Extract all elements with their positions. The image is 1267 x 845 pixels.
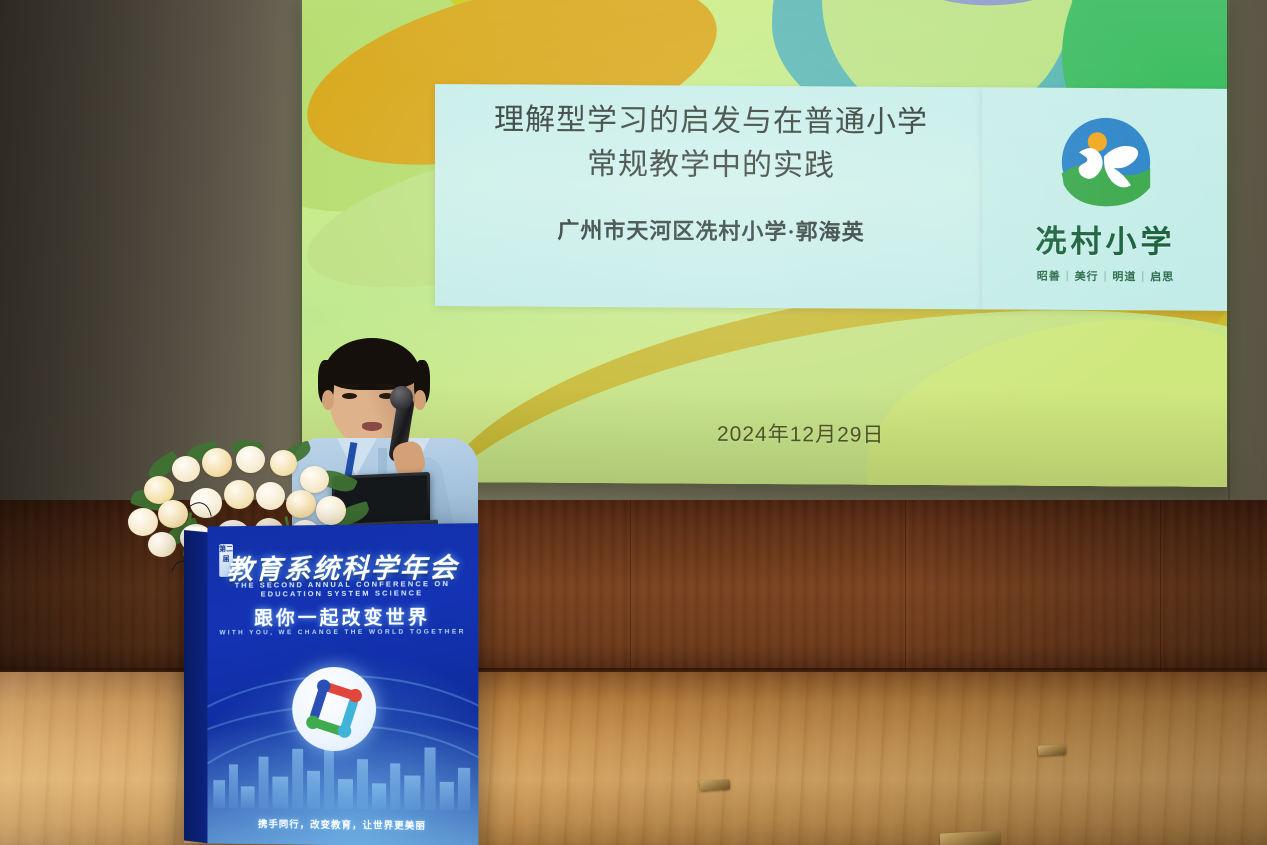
auditorium-scene: 理解型学习的启发与在普通小学 常规教学中的实践 广州市天河区冼村小学·郭海英 冼… — [0, 0, 1267, 845]
rose-bloom — [236, 446, 265, 473]
rose-bloom — [224, 480, 254, 509]
speaker-ear — [414, 390, 426, 410]
wood-panel-seam — [1160, 500, 1161, 678]
speaker-hair — [324, 338, 420, 390]
rose-bloom — [286, 490, 316, 518]
floor-outlet-plate — [700, 779, 730, 791]
rose-bloom — [202, 448, 232, 477]
rose-bloom — [172, 456, 200, 482]
conference-slogan-english: WITH YOU, WE CHANGE THE WORLD TOGETHER — [207, 628, 478, 636]
speaker-eye — [342, 393, 357, 399]
floor-outlet-plate — [940, 830, 1001, 845]
speaker-brow — [376, 384, 396, 388]
speaker-mouth — [362, 422, 382, 431]
podium-left-side — [184, 530, 209, 843]
floor-outlet-plate — [1038, 744, 1066, 755]
rose-bloom — [300, 466, 329, 493]
speaker-brow — [340, 384, 360, 388]
wood-panel-seam — [905, 500, 906, 678]
conference-title-english: THE SECOND ANNUAL CONFERENCE ON EDUCATIO… — [207, 579, 478, 599]
conference-slogan: 跟你一起改变世界 — [207, 602, 478, 630]
rose-bloom — [256, 482, 285, 510]
wood-panel-seam — [630, 500, 631, 678]
rose-bloom — [128, 508, 158, 536]
conference-emblem-icon — [292, 667, 376, 751]
podium-front-panel: 第二届 教育系统科学年会 THE SECOND ANNUAL CONFERENC… — [207, 523, 478, 845]
wall-seam — [1228, 0, 1230, 530]
rose-bloom — [270, 450, 297, 476]
rose-bloom — [316, 496, 346, 525]
podium: 第二届 教育系统科学年会 THE SECOND ANNUAL CONFERENC… — [184, 523, 478, 845]
